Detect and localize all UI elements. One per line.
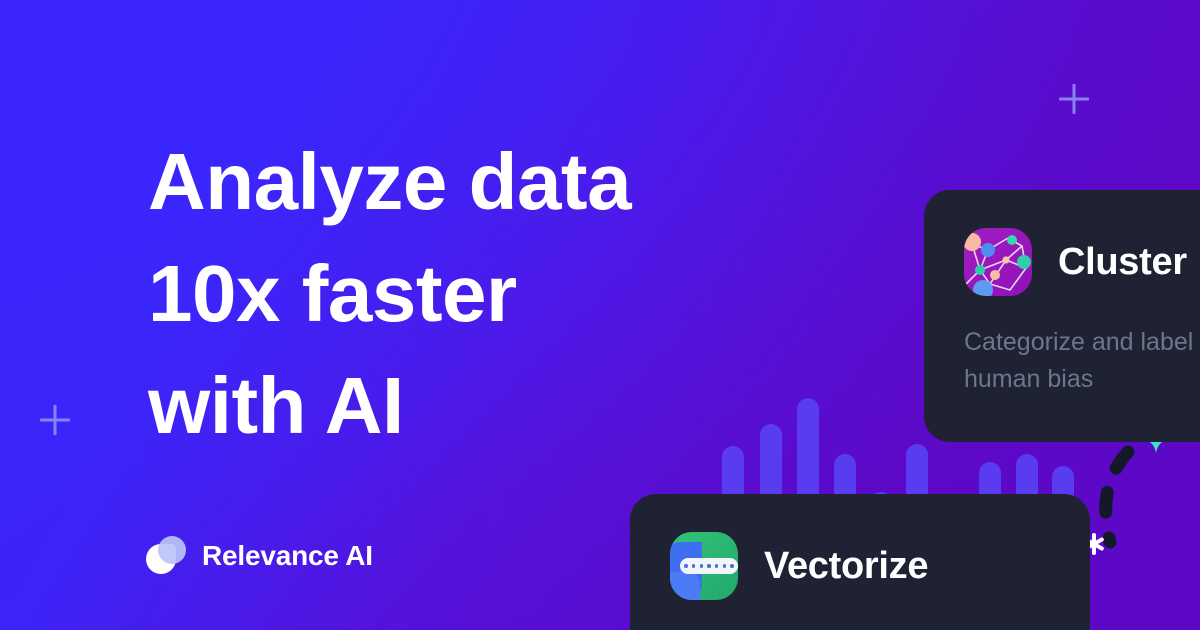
vectorize-app-icon [670, 532, 738, 600]
feature-card-vectorize[interactable]: Vectorize [630, 494, 1090, 630]
plus-icon [1059, 84, 1089, 114]
brand-name: Relevance AI [202, 540, 373, 572]
cluster-app-icon [964, 228, 1032, 296]
card-title: Vectorize [764, 545, 928, 588]
card-header: Cluster [964, 228, 1200, 296]
page-title: Analyze data 10x faster with AI [148, 126, 631, 462]
relevance-ai-logo-icon [146, 536, 186, 576]
card-description: Categorize and label without human bias [964, 324, 1200, 398]
plus-icon [40, 405, 70, 435]
brand-lockup: Relevance AI [146, 536, 373, 576]
card-title: Cluster [1058, 241, 1187, 284]
feature-card-cluster[interactable]: Cluster Categorize and label without hum… [924, 190, 1200, 442]
card-header: Vectorize [670, 532, 1050, 600]
